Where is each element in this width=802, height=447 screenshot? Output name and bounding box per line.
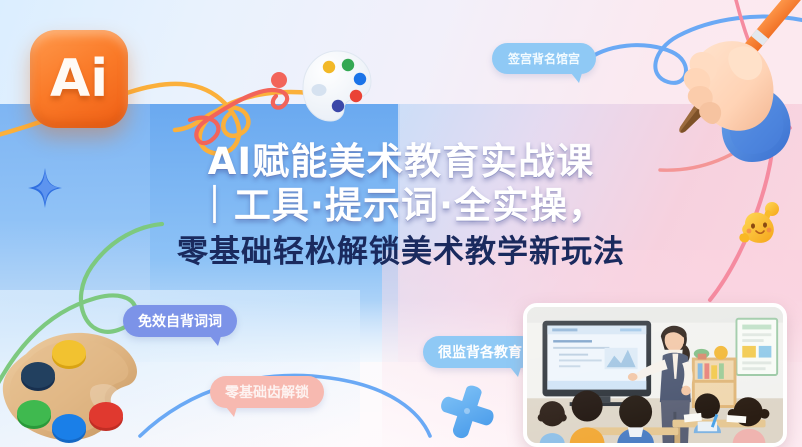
tag-top-right[interactable]: 签宫背名馆宫 — [492, 43, 596, 74]
yellow-mascot-icon — [735, 200, 785, 250]
sparkle-star-icon — [28, 168, 62, 208]
tag-mid-left[interactable]: 免效自背词词 — [123, 305, 237, 337]
classroom-photo — [527, 307, 783, 443]
ai-logo-label: Ai — [30, 30, 128, 128]
tag-bottom-mid[interactable]: 很监背各教育 — [423, 336, 537, 368]
ai-logo-tile: Ai — [30, 30, 128, 128]
classroom-photo-card — [523, 303, 787, 447]
red-dot — [271, 72, 287, 88]
wooden-palette-icon — [0, 316, 154, 447]
course-banner: Ai — [0, 0, 802, 447]
palette-icon — [293, 43, 379, 129]
blue-plus-shape-icon — [440, 385, 494, 439]
tag-bottom-left[interactable]: 零基础齿解锁 — [210, 376, 324, 408]
hand-holding-paintbrush-icon — [640, 0, 802, 162]
